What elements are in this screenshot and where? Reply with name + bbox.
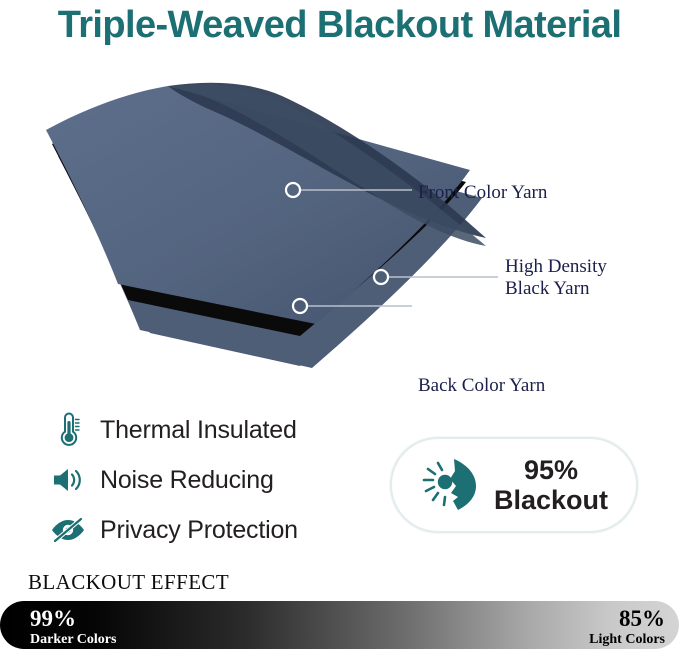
feature-label-thermal: Thermal Insulated: [100, 416, 297, 445]
badge-percent: 95%: [524, 455, 578, 485]
badge-label: Blackout: [494, 485, 608, 515]
fabric-diagram: Front Color Yarn High Density Black Yarn…: [0, 78, 679, 368]
callout-label-front: Front Color Yarn: [418, 182, 547, 204]
blackout-effect-right-percent: 85%: [589, 601, 665, 630]
badge-text: 95% Blackout: [494, 455, 608, 515]
sun-blocked-icon: [420, 453, 486, 517]
blackout-effect-left: 99% Darker Colors: [30, 601, 116, 647]
blackout-effect-right: 85% Light Colors: [589, 601, 665, 647]
blackout-effect-left-percent: 99%: [30, 601, 116, 630]
infographic-page: Triple-Weaved Blackout Material: [0, 0, 679, 654]
page-title: Triple-Weaved Blackout Material: [0, 4, 679, 47]
speaker-icon: [48, 460, 88, 500]
callout-label-middle-line1: High Density: [505, 256, 607, 278]
feature-label-privacy: Privacy Protection: [100, 516, 298, 545]
callout-label-middle: High Density Black Yarn: [505, 256, 607, 301]
blackout-effect-right-label: Light Colors: [589, 630, 665, 647]
thermometer-icon: [48, 410, 88, 450]
eye-slash-icon: [48, 510, 88, 550]
feature-label-noise: Noise Reducing: [100, 466, 274, 495]
feature-list: Thermal Insulated Noise Reducing: [48, 408, 378, 558]
blackout-effect-heading: BLACKOUT EFFECT: [28, 570, 229, 595]
blackout-badge: 95% Blackout: [390, 437, 638, 533]
callout-label-back: Back Color Yarn: [418, 375, 545, 397]
feature-item-noise: Noise Reducing: [48, 458, 378, 502]
feature-item-privacy: Privacy Protection: [48, 508, 378, 552]
callout-label-middle-line2: Black Yarn: [505, 278, 607, 300]
feature-item-thermal: Thermal Insulated: [48, 408, 378, 452]
blackout-effect-left-label: Darker Colors: [30, 630, 116, 647]
